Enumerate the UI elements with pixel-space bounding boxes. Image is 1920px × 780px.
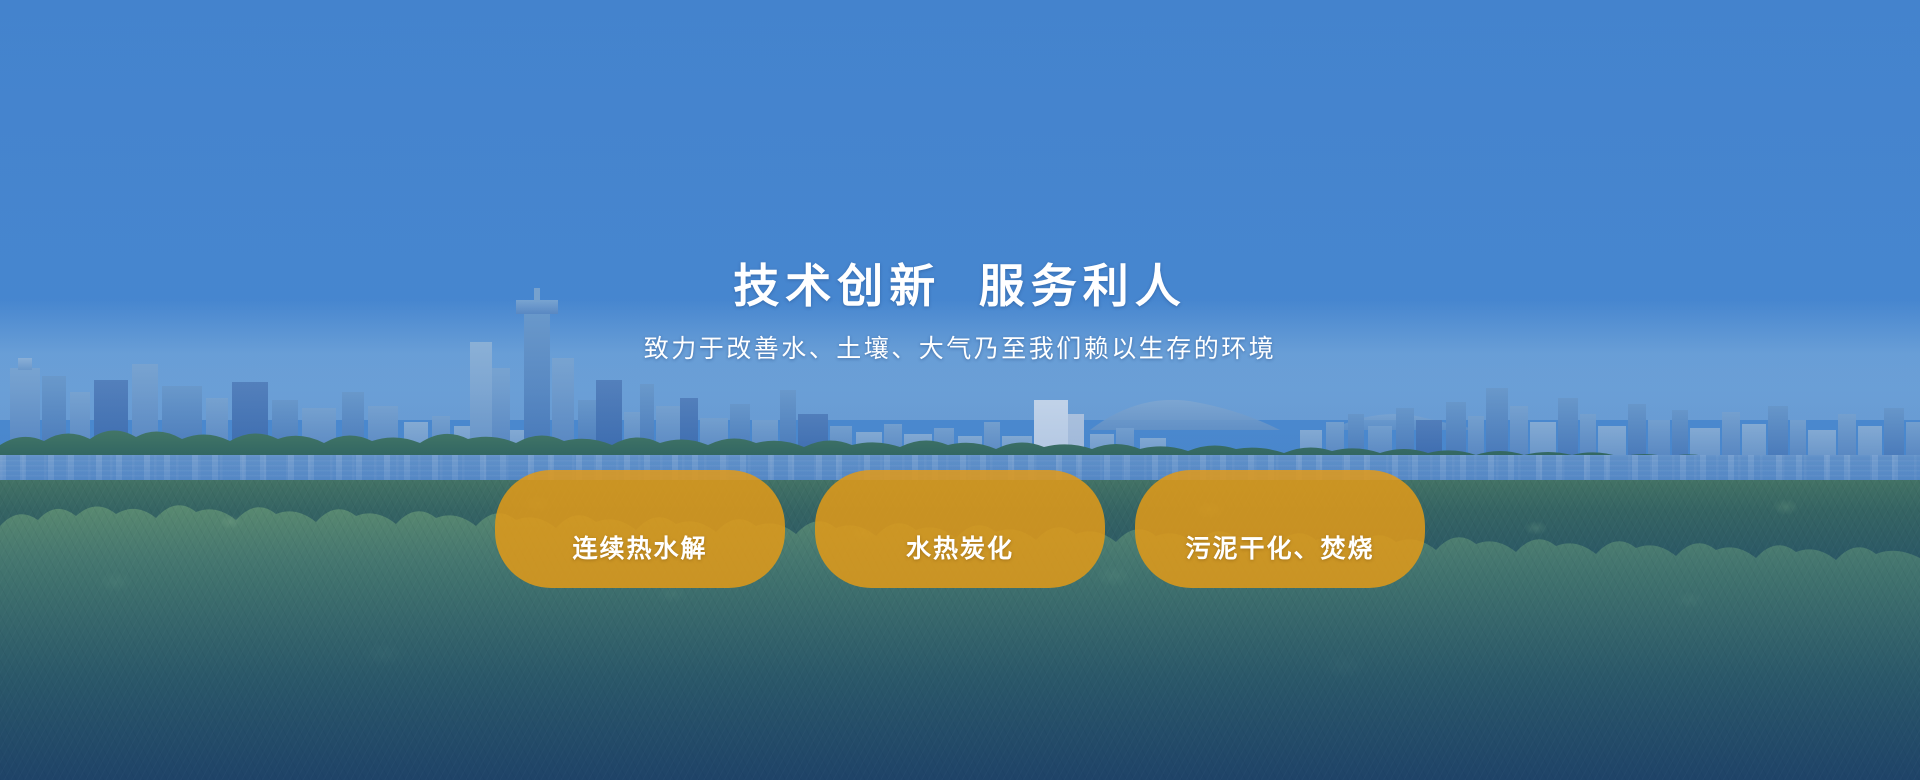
pill-button-label: 连续热水解	[572, 529, 707, 565]
pill-button-label: 污泥干化、焚烧	[1185, 529, 1374, 565]
pill-button-label: 水热炭化	[906, 529, 1014, 565]
hero-banner: 技术创新 服务利人 致力于改善水、土壤、大气乃至我们赖以生存的环境 连续热水解 …	[0, 0, 1920, 780]
pill-button-sludge-drying-incineration[interactable]: 污泥干化、焚烧	[1135, 470, 1425, 588]
hero-copy: 技术创新 服务利人 致力于改善水、土壤、大气乃至我们赖以生存的环境	[0, 258, 1920, 367]
page-title: 技术创新 服务利人	[0, 258, 1920, 316]
pill-button-continuous-thermal-hydrolysis[interactable]: 连续热水解	[495, 470, 785, 588]
pill-button-hydrothermal-carbonization[interactable]: 水热炭化	[815, 470, 1105, 588]
service-pill-group: 连续热水解 水热炭化 污泥干化、焚烧	[0, 470, 1920, 588]
page-subtitle: 致力于改善水、土壤、大气乃至我们赖以生存的环境	[0, 332, 1920, 367]
